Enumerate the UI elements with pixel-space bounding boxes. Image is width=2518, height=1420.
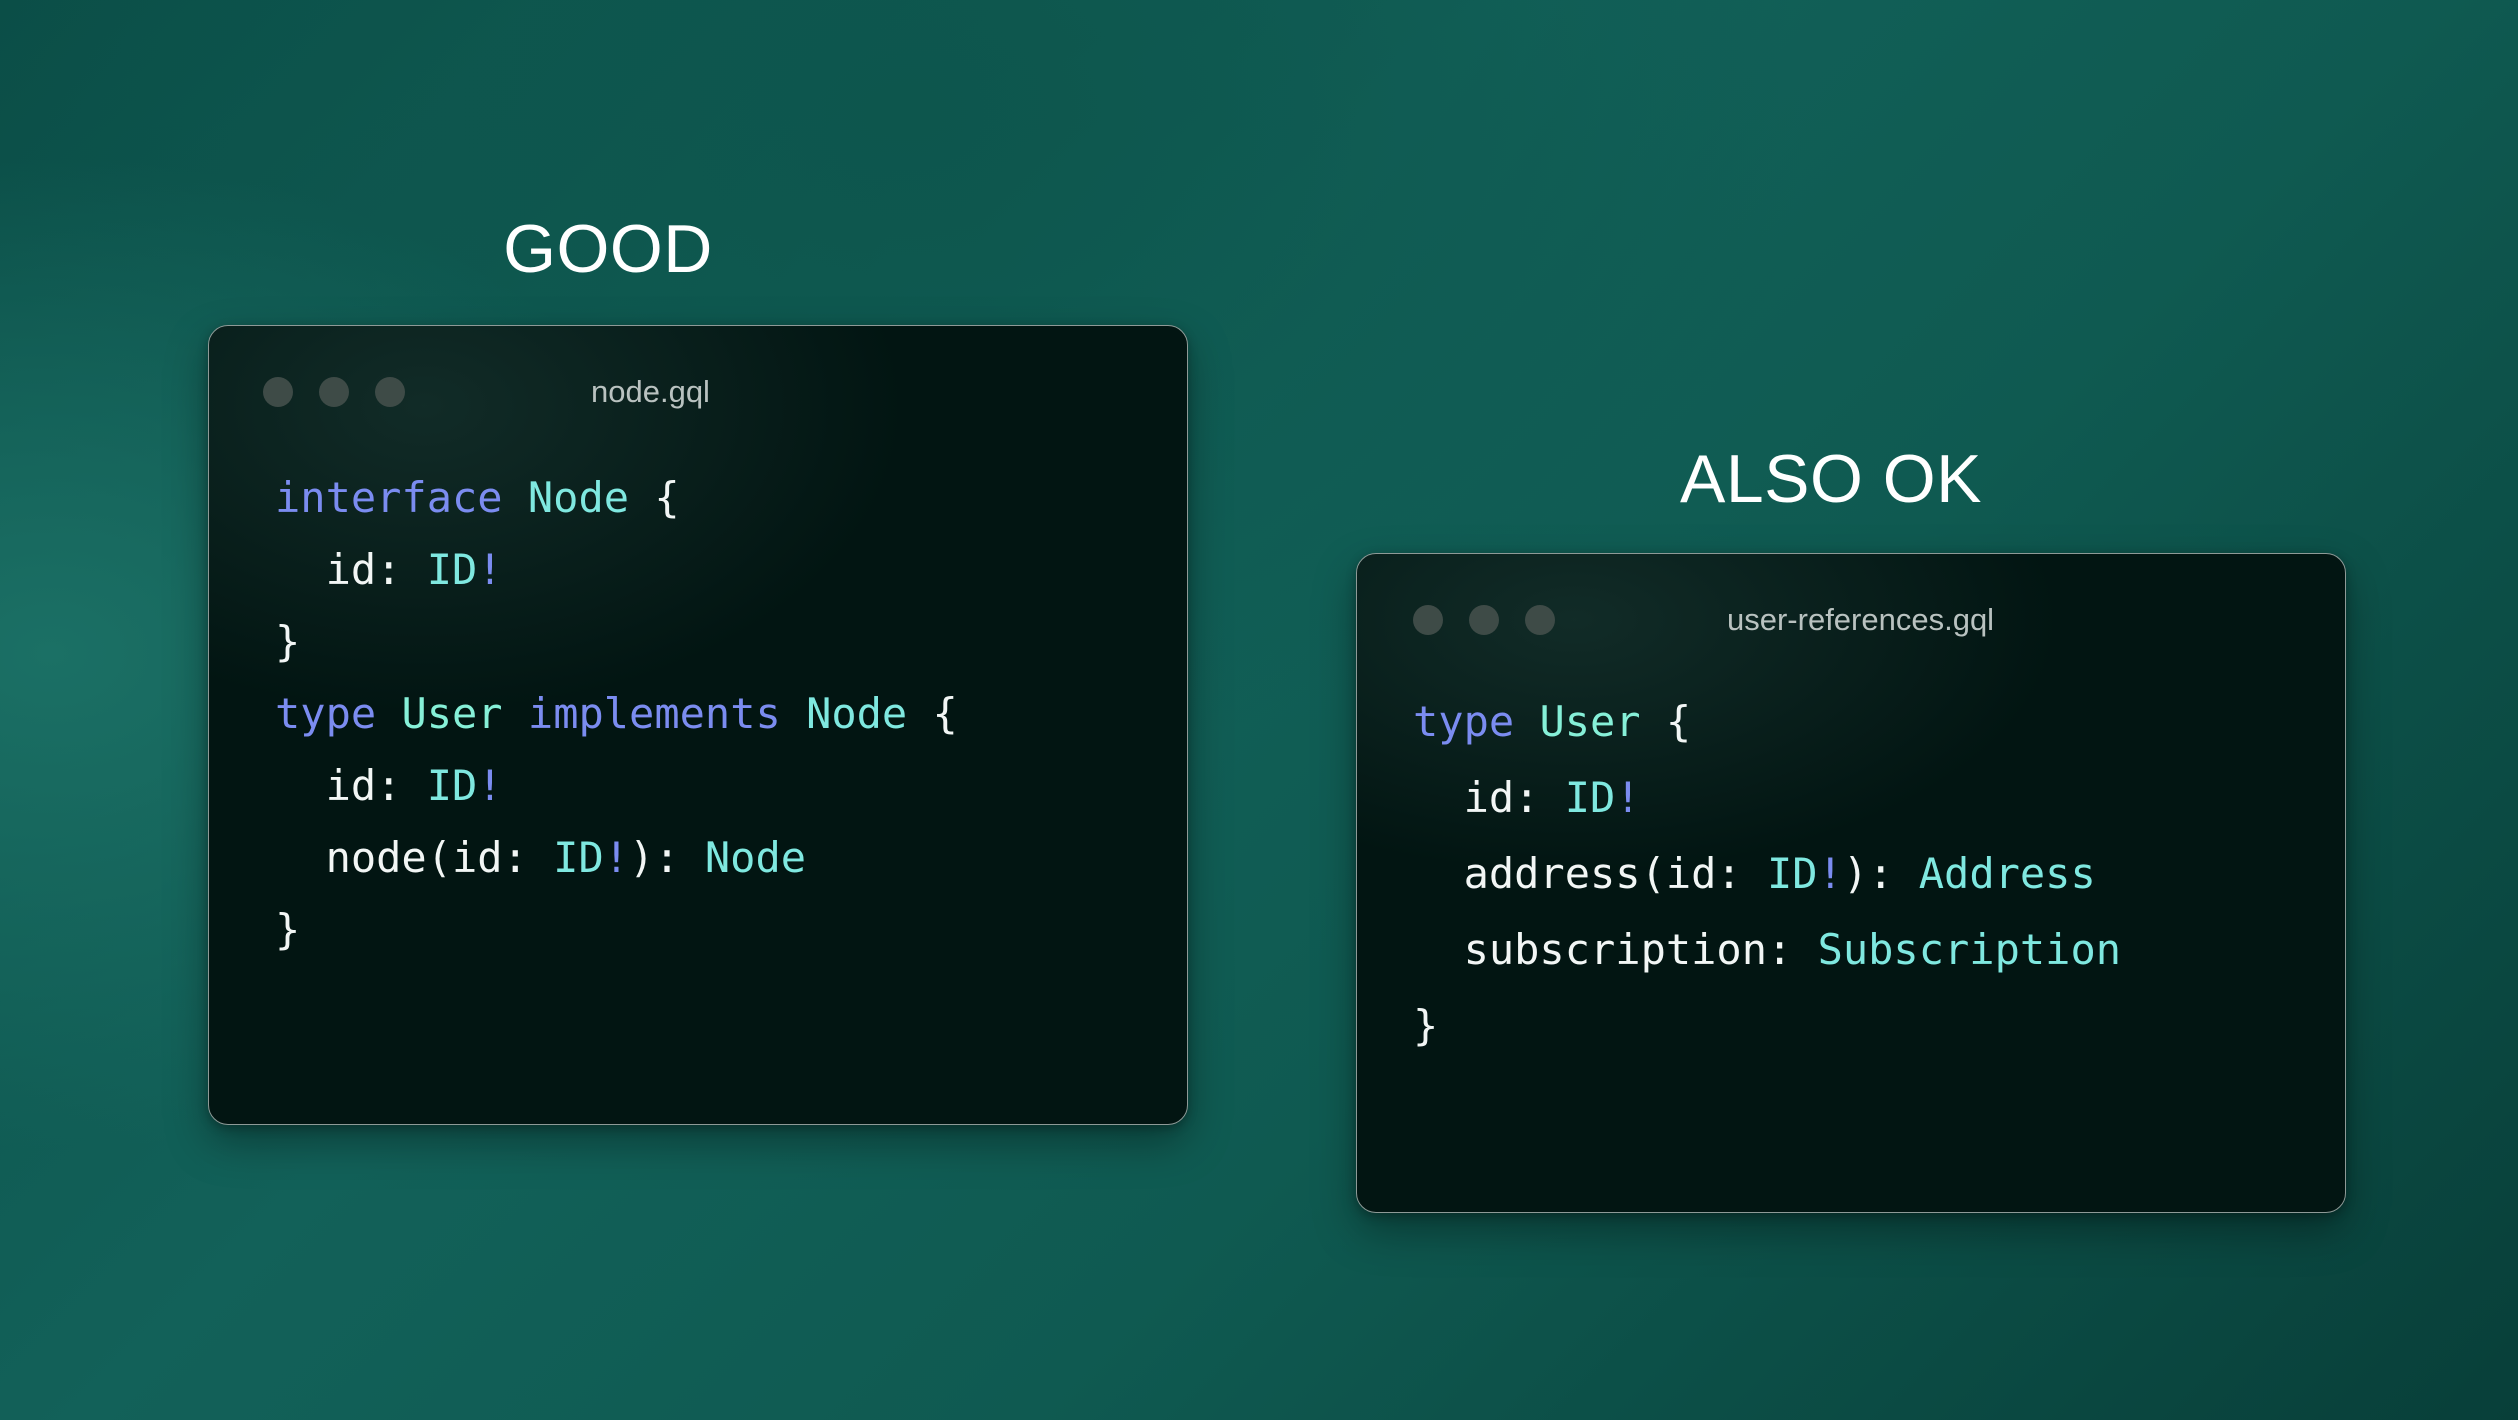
code-line: address(id: ID!): Address — [1413, 849, 2096, 898]
code-token-plain: ): — [1843, 849, 1919, 898]
code-line: } — [275, 617, 300, 666]
window-titlebar-also-ok: user-references.gql — [1357, 554, 2345, 638]
code-block-also-ok: type User { id: ID! address(id: ID!): Ad… — [1356, 638, 2345, 1064]
minimize-dot-icon[interactable] — [319, 377, 349, 407]
code-token-kw: type — [1413, 697, 1514, 746]
code-token-plain: } — [1413, 1001, 1438, 1050]
code-token-plain: address(id: — [1413, 849, 1767, 898]
code-line: type User implements Node { — [275, 689, 958, 738]
code-line: node(id: ID!): Node — [275, 833, 806, 882]
code-token-plain: id: — [275, 761, 427, 810]
close-dot-icon[interactable] — [1413, 605, 1443, 635]
code-token-type: ID — [427, 761, 478, 810]
minimize-dot-icon[interactable] — [1469, 605, 1499, 635]
maximize-dot-icon[interactable] — [375, 377, 405, 407]
code-token-plain: { — [1641, 697, 1692, 746]
code-token-plain — [503, 689, 528, 738]
code-line: } — [275, 905, 300, 954]
code-token-plain — [376, 689, 401, 738]
code-token-plain: } — [275, 905, 300, 954]
code-token-plain — [1514, 697, 1539, 746]
code-token-plain: node(id: — [275, 833, 553, 882]
window-filename-also-ok: user-references.gql — [1727, 602, 1994, 638]
comparison-stage: GOOD node.gql interface Node { id: ID! }… — [0, 0, 2518, 1420]
code-token-type: Address — [1919, 849, 2096, 898]
code-token-plain: { — [907, 689, 958, 738]
code-token-kw: interface — [275, 473, 503, 522]
code-window-good: node.gql interface Node { id: ID! } type… — [208, 325, 1188, 1125]
code-window-also-ok: user-references.gql type User { id: ID! … — [1356, 553, 2346, 1213]
panel-heading-good: GOOD — [118, 215, 1098, 283]
code-token-type: Subscription — [1818, 925, 2121, 974]
code-line: } — [1413, 1001, 1438, 1050]
code-token-type: ID — [553, 833, 604, 882]
window-filename-good: node.gql — [591, 374, 710, 410]
code-line: interface Node { — [275, 473, 680, 522]
code-token-bang: ! — [1818, 849, 1843, 898]
code-token-type: Node — [806, 689, 907, 738]
panel-also-ok: ALSO OK user-references.gql type User { … — [1356, 445, 2346, 1213]
code-token-plain: subscription: — [1413, 925, 1818, 974]
code-token-plain: } — [275, 617, 300, 666]
code-line: subscription: Subscription — [1413, 925, 2121, 974]
traffic-lights-good — [263, 377, 405, 407]
close-dot-icon[interactable] — [263, 377, 293, 407]
code-token-type: Node — [705, 833, 806, 882]
code-token-kw: implements — [528, 689, 781, 738]
code-token-type2: User — [401, 689, 502, 738]
code-token-plain: ): — [629, 833, 705, 882]
code-token-plain — [503, 473, 528, 522]
code-token-plain: id: — [1413, 773, 1565, 822]
code-line: type User { — [1413, 697, 1691, 746]
code-token-type: ID — [1767, 849, 1818, 898]
code-line: id: ID! — [1413, 773, 1641, 822]
code-token-plain — [781, 689, 806, 738]
code-token-type: ID — [427, 545, 478, 594]
code-token-type: Node — [528, 473, 629, 522]
code-line: id: ID! — [275, 761, 503, 810]
code-token-type2: User — [1539, 697, 1640, 746]
traffic-lights-also-ok — [1413, 605, 1555, 635]
code-token-bang: ! — [1615, 773, 1640, 822]
code-token-bang: ! — [604, 833, 629, 882]
code-token-bang: ! — [477, 545, 502, 594]
panel-good: GOOD node.gql interface Node { id: ID! }… — [208, 215, 1188, 1125]
code-token-kw: type — [275, 689, 376, 738]
code-token-bang: ! — [477, 761, 502, 810]
maximize-dot-icon[interactable] — [1525, 605, 1555, 635]
code-block-good: interface Node { id: ID! } type User imp… — [208, 410, 1187, 966]
code-token-type: ID — [1565, 773, 1616, 822]
window-titlebar-good: node.gql — [209, 326, 1187, 410]
panel-heading-also-ok: ALSO OK — [1336, 445, 2326, 513]
code-token-plain: { — [629, 473, 680, 522]
code-token-plain: id: — [275, 545, 427, 594]
code-line: id: ID! — [275, 545, 503, 594]
